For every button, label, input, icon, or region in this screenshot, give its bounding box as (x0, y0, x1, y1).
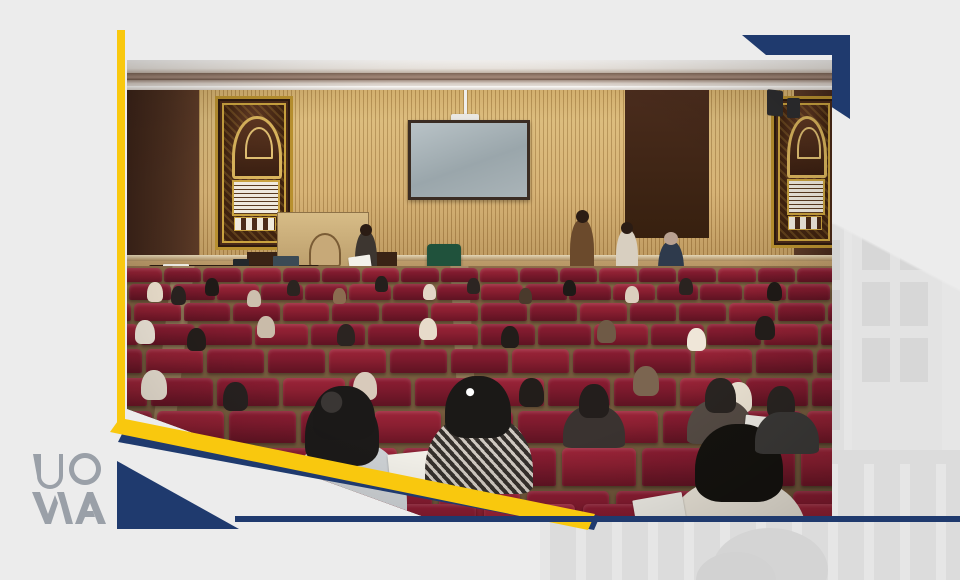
attendee (579, 384, 609, 418)
uowa-logo-icon (30, 452, 110, 526)
attendee (687, 328, 706, 351)
yellow-vertical-bar (117, 30, 125, 432)
navy-corner-bracket (742, 35, 850, 119)
attendee (625, 286, 639, 303)
attendee (755, 316, 775, 340)
projection-screen (408, 120, 530, 200)
attendee (467, 278, 480, 294)
attendee (135, 320, 155, 344)
attendee (501, 326, 519, 348)
attendee (147, 282, 163, 302)
attendee (519, 378, 544, 407)
attendee (679, 278, 693, 295)
seat-row-10 (127, 268, 832, 282)
seat-row-6 (127, 349, 832, 373)
attendee (333, 288, 346, 304)
attendee (187, 328, 206, 351)
attendee (337, 324, 355, 346)
attendee (205, 278, 219, 296)
navy-baseline (235, 516, 960, 522)
seat-row-8 (127, 303, 832, 321)
attendee (419, 318, 437, 340)
attendee (423, 284, 436, 300)
audience-seating (127, 266, 832, 519)
foreground-attendee-2 (445, 376, 511, 438)
attendee (767, 282, 782, 301)
hall-ceiling (127, 60, 832, 90)
attendee (141, 370, 167, 400)
attendee (597, 320, 616, 343)
attendee (375, 276, 388, 292)
projector-mount (464, 90, 467, 116)
uowa-logo[interactable]: UO WA (30, 452, 110, 526)
banner-canvas: UO WA (0, 0, 960, 580)
navy-triangle (117, 461, 239, 529)
attendee (171, 286, 186, 305)
attendee (633, 366, 659, 396)
attendee (257, 316, 275, 338)
seat-row-7 (127, 324, 832, 345)
attendee (519, 288, 532, 304)
attendee (223, 382, 248, 411)
attendee (705, 378, 736, 413)
attendee (287, 280, 300, 296)
attendee (563, 280, 576, 296)
attendee (247, 290, 261, 307)
